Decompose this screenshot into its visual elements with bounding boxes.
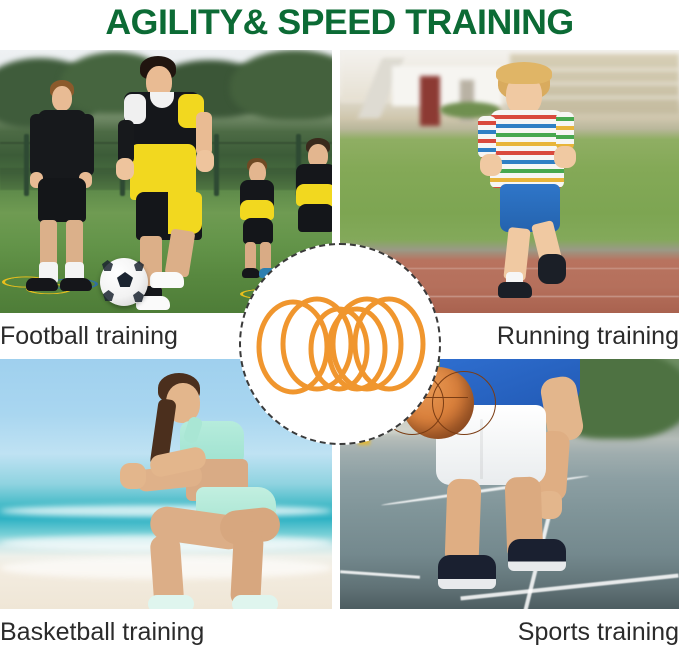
soccer-ball (100, 258, 148, 306)
caption-sports: Sports training (340, 609, 679, 655)
agility-rings-illustration (247, 251, 433, 437)
caption-basketball: Basketball training (0, 609, 332, 655)
title-bar: AGILITY& SPEED TRAINING (0, 0, 679, 46)
page-title: AGILITY& SPEED TRAINING (105, 3, 573, 43)
agility-rings-product-badge (239, 243, 441, 445)
rainbow-striped-shirt (490, 110, 564, 188)
